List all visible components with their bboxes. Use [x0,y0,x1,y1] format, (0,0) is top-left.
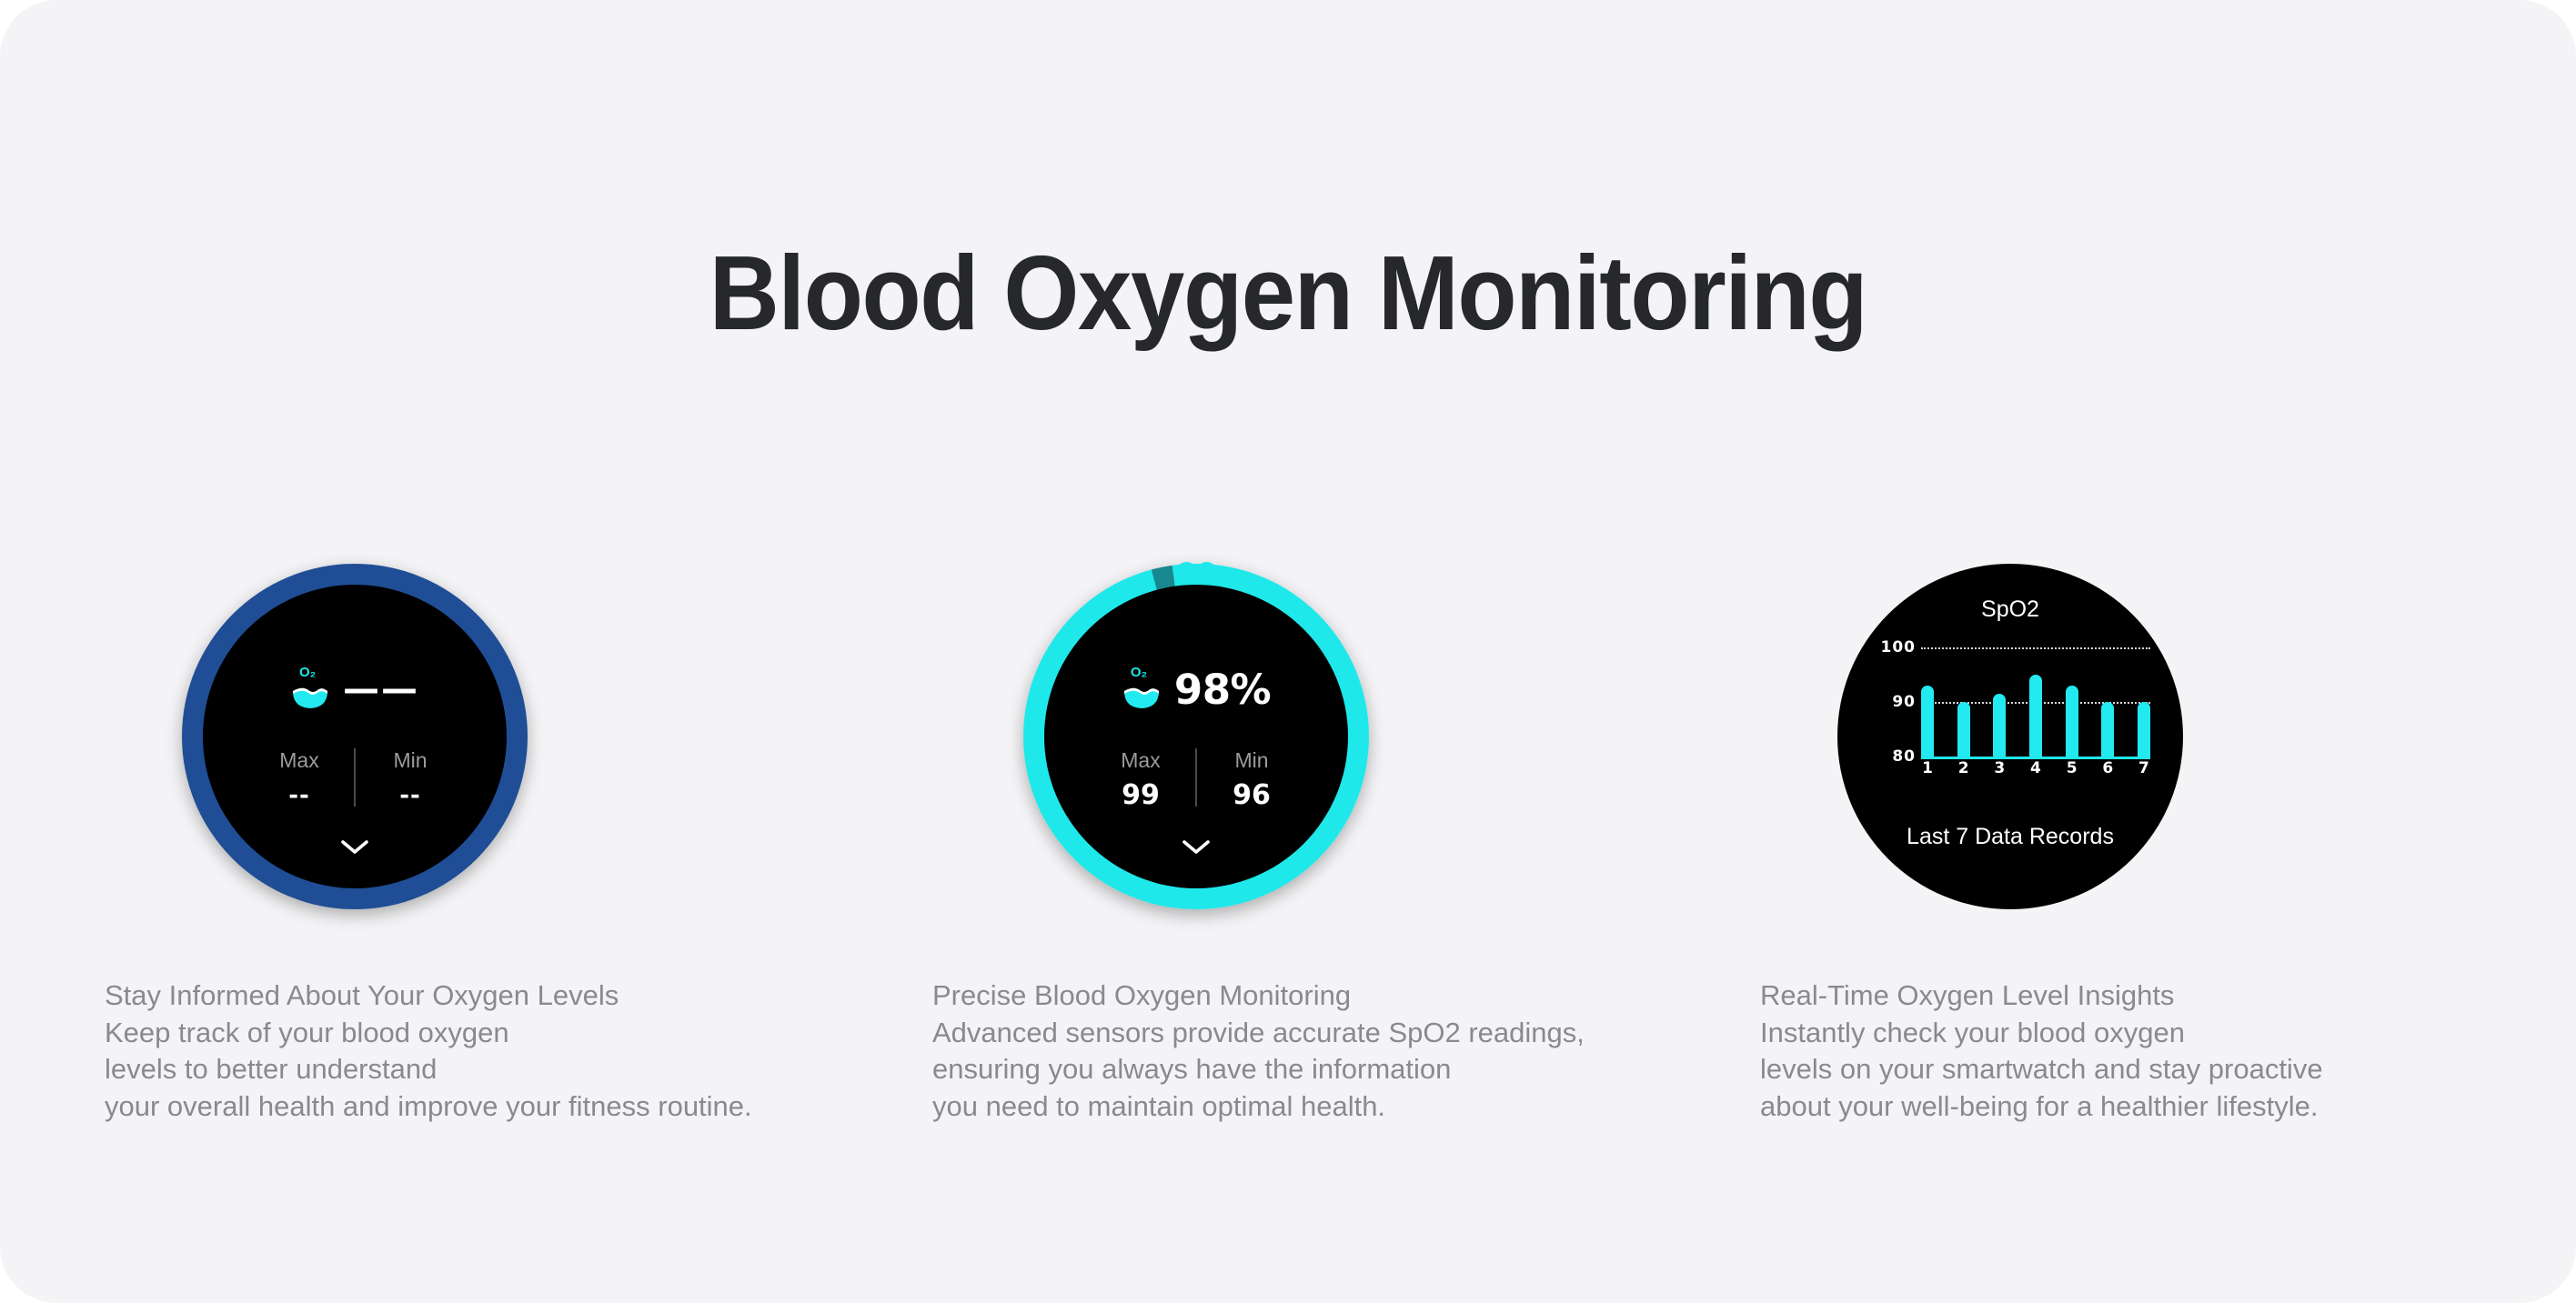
min-cell: Min 96 [1197,747,1306,810]
o2-value: 98% [1174,669,1271,710]
o2-icon-label: O₂ [299,666,316,679]
chevron-down-icon[interactable] [339,837,370,856]
min-label: Min [1197,747,1306,774]
caption-line-2: ensuring you always have the information [932,1051,1678,1088]
feature-column-1: O₂ —— Max -- Min [50,0,869,1303]
chart-bar [2101,702,2114,757]
chart-bar [1921,686,1934,757]
chart-x-label: 4 [2029,760,2042,777]
chart-title: SpO2 [1837,596,2183,622]
min-value: -- [356,781,465,810]
feature-caption-3: Real-Time Oxygen Level Insights Instantl… [1760,977,2506,1125]
caption-heading: Real-Time Oxygen Level Insights [1760,977,2506,1015]
chart-y-axis-label: 100 [1881,640,1917,656]
min-cell: Min -- [356,747,465,810]
caption-line-2: levels to better understand [105,1051,850,1088]
o2-reading-row: O₂ —— [203,668,507,710]
watch-idle[interactable]: O₂ —— Max -- Min [182,564,528,909]
watch-face: O₂ —— Max -- Min [203,585,507,888]
caption-heading: Precise Blood Oxygen Monitoring [932,977,1678,1015]
feature-column-2: O₂ 98% Max 99 Min [878,0,1696,1303]
o2-value: —— [343,669,419,710]
caption-heading: Stay Informed About Your Oxygen Levels [105,977,850,1015]
chart-bar [2138,702,2150,757]
o2-reading-row: O₂ 98% [1044,668,1348,710]
caption-line-1: Instantly check your blood oxygen [1760,1015,2506,1052]
watch-face: SpO2 8090100 1234567 Last 7 Data Records [1837,564,2183,909]
chart-bar [2066,686,2078,757]
max-cell: Max 99 [1086,747,1195,810]
progress-ring-cap-start [1176,562,1197,583]
chart-bar [1957,702,1970,757]
feature-caption-2: Precise Blood Oxygen Monitoring Advanced… [932,977,1678,1125]
caption-line-2: levels on your smartwatch and stay proac… [1760,1051,2506,1088]
chart-x-label: 5 [2066,760,2078,777]
feature-caption-1: Stay Informed About Your Oxygen Levels K… [105,977,850,1125]
droplet-glyph [292,684,328,709]
page-card: Blood Oxygen Monitoring O₂ —— [0,0,2576,1303]
feature-column-3: SpO2 8090100 1234567 Last 7 Data Records… [1706,0,2524,1303]
chart-x-label: 1 [1921,760,1934,777]
chart-x-label: 7 [2138,760,2150,777]
caption-line-3: your overall health and improve your fit… [105,1088,850,1126]
o2-droplet-icon: O₂ [1122,668,1162,710]
max-cell: Max -- [245,747,354,810]
o2-droplet-icon: O₂ [290,668,330,710]
chart-bars [1921,647,2150,757]
droplet-glyph [1123,684,1160,709]
min-value: 96 [1197,781,1306,810]
progress-ring-cap-end [1196,562,1217,583]
chart-x-label: 2 [1957,760,1970,777]
chart-y-axis-label: 80 [1892,749,1916,765]
max-label: Max [1086,747,1195,774]
chart-bar [1993,694,2006,757]
min-label: Min [356,747,465,774]
chart-y-axis-label: 90 [1892,695,1916,710]
spo2-bar-chart: 8090100 1234567 [1877,647,2150,786]
chart-x-label: 6 [2101,760,2114,777]
caption-line-3: about your well-being for a healthier li… [1760,1088,2506,1126]
caption-line-1: Advanced sensors provide accurate SpO2 r… [932,1015,1678,1052]
watch-face: O₂ 98% Max 99 Min [1044,585,1348,888]
max-value: -- [245,781,354,810]
minmax-row: Max -- Min -- [203,747,507,810]
chart-x-axis-labels: 1234567 [1921,760,2150,777]
caption-line-1: Keep track of your blood oxygen [105,1015,850,1052]
chart-x-label: 3 [1993,760,2006,777]
max-label: Max [245,747,354,774]
chart-bar [2029,675,2042,757]
chart-caption: Last 7 Data Records [1837,824,2183,849]
chevron-down-icon[interactable] [1181,837,1212,856]
max-value: 99 [1086,781,1195,810]
minmax-row: Max 99 Min 96 [1044,747,1348,810]
watch-chart[interactable]: SpO2 8090100 1234567 Last 7 Data Records [1837,564,2183,909]
caption-line-3: you need to maintain optimal health. [932,1088,1678,1126]
o2-icon-label: O₂ [1131,666,1147,679]
watch-active[interactable]: O₂ 98% Max 99 Min [1023,564,1369,909]
